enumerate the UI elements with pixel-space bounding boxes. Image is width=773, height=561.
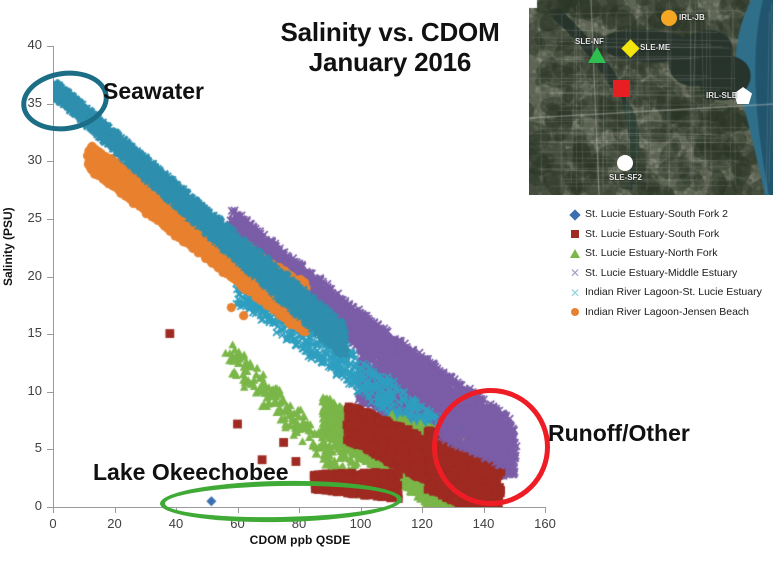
circle-marker-icon	[568, 305, 582, 319]
x-tick-label: 140	[464, 516, 504, 531]
x-tick-label: 120	[402, 516, 442, 531]
map-marker-irl-jb[interactable]	[661, 10, 677, 26]
y-tick-label: 30	[10, 152, 42, 167]
x-tick-label: 100	[341, 516, 381, 531]
runoff-other-label: Runoff/Other	[548, 420, 690, 447]
runoff-circle-annotation	[432, 388, 550, 506]
map-marker-label: SLE-ME	[640, 43, 670, 52]
diamond-marker-icon	[568, 208, 582, 222]
map-marker-label: SLE-NF	[575, 37, 604, 46]
legend-item-label: Indian River Lagoon-Jensen Beach	[585, 306, 749, 319]
map-inset[interactable]: IRL-JBSLE-NFSLE-MEIRL-SLESLE-SF2	[527, 0, 773, 197]
legend-item[interactable]: Indian River Lagoon-Jensen Beach	[568, 303, 768, 323]
triangle-marker-icon	[568, 247, 582, 261]
y-axis-title: Salinity (PSU)	[1, 207, 15, 286]
legend-item[interactable]: St. Lucie Estuary-South Fork 2	[568, 205, 768, 225]
title-line-1: Salinity vs. CDOM	[280, 17, 499, 47]
legend-item-label: Indian River Lagoon-St. Lucie Estuary	[585, 286, 762, 299]
y-tick-label: 5	[10, 440, 42, 455]
legend-item[interactable]: St. Lucie Estuary-South Fork	[568, 225, 768, 245]
legend-item[interactable]: ✕St. Lucie Estuary-Middle Estuary	[568, 264, 768, 284]
legend-item-label: St. Lucie Estuary-Middle Estuary	[585, 267, 737, 280]
chart-legend: St. Lucie Estuary-South Fork 2St. Lucie …	[568, 205, 768, 322]
x-marker-icon: ✕	[568, 266, 582, 280]
map-marker-label: IRL-SLE	[706, 91, 737, 100]
map-marker-label: IRL-JB	[679, 13, 705, 22]
legend-item-label: St. Lucie Estuary-South Fork	[585, 228, 719, 241]
map-marker-sle-nf[interactable]	[588, 47, 606, 63]
lake-okeechobee-label: Lake Okeechobee	[93, 459, 289, 486]
legend-item[interactable]: ✕Indian River Lagoon-St. Lucie Estuary	[568, 283, 768, 303]
x-tick-label: 40	[156, 516, 196, 531]
x-tick-label: 160	[525, 516, 565, 531]
x-tick-label: 20	[95, 516, 135, 531]
x-tick-mark	[484, 507, 485, 513]
y-tick-label: 15	[10, 325, 42, 340]
x-tick-label: 0	[33, 516, 73, 531]
map-marker-label: SLE-SF2	[609, 173, 642, 182]
x-tick-mark	[115, 507, 116, 513]
legend-item-label: St. Lucie Estuary-North Fork	[585, 247, 717, 260]
x-axis-title: CDOM ppb QSDE	[195, 533, 405, 547]
x-tick-mark	[422, 507, 423, 513]
y-tick-label: 40	[10, 37, 42, 52]
legend-item[interactable]: St. Lucie Estuary-North Fork	[568, 244, 768, 264]
x-tick-mark	[53, 507, 54, 513]
seawater-label: Seawater	[103, 78, 204, 105]
y-tick-label: 0	[10, 498, 42, 513]
map-marker-sle-sf[interactable]	[613, 80, 630, 97]
legend-item-label: St. Lucie Estuary-South Fork 2	[585, 208, 728, 221]
y-tick-label: 10	[10, 383, 42, 398]
square-marker-icon	[568, 227, 582, 241]
x-marker-icon: ✕	[568, 286, 582, 300]
x-tick-mark	[545, 507, 546, 513]
map-marker-sle-sf2[interactable]	[617, 155, 633, 171]
